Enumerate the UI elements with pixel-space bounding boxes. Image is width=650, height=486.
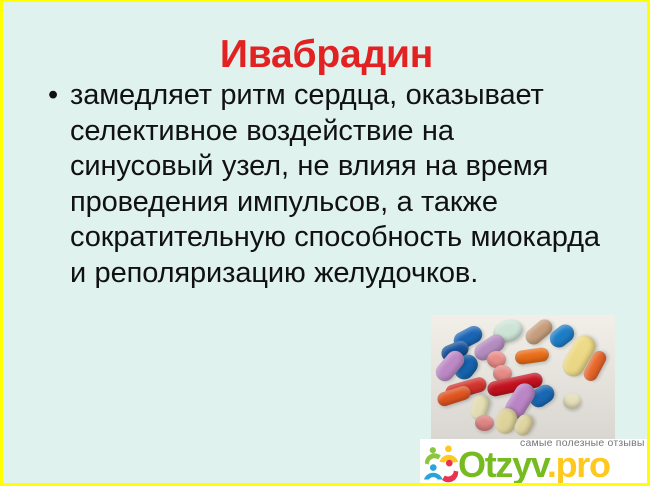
bullet-list: • замедляет ритм сердца, оказывает селек… — [43, 78, 603, 291]
watermark-wordmark: Otzyv.pro — [458, 446, 610, 484]
wordmark-brand: Otzyv — [458, 444, 547, 485]
pill-capsule — [436, 384, 473, 408]
list-item: • замедляет ритм сердца, оказывает селек… — [43, 78, 603, 291]
pill-capsule — [514, 347, 550, 366]
page-title: Ивабрадин — [3, 35, 650, 76]
bullet-text: замедляет ритм сердца, оказывает селекти… — [70, 78, 603, 291]
presentation-slide: Ивабрадин • замедляет ритм сердца, оказы… — [0, 0, 650, 486]
otzyv-pro-watermark[interactable]: самые полезные отзывы Otzyv.pro — [420, 439, 650, 486]
pill-pill — [475, 415, 494, 431]
bullet-marker-icon: • — [43, 78, 70, 113]
assorted-pills-photo — [431, 315, 615, 439]
pill-pill — [563, 393, 581, 409]
wordmark-tld: .pro — [547, 444, 610, 485]
